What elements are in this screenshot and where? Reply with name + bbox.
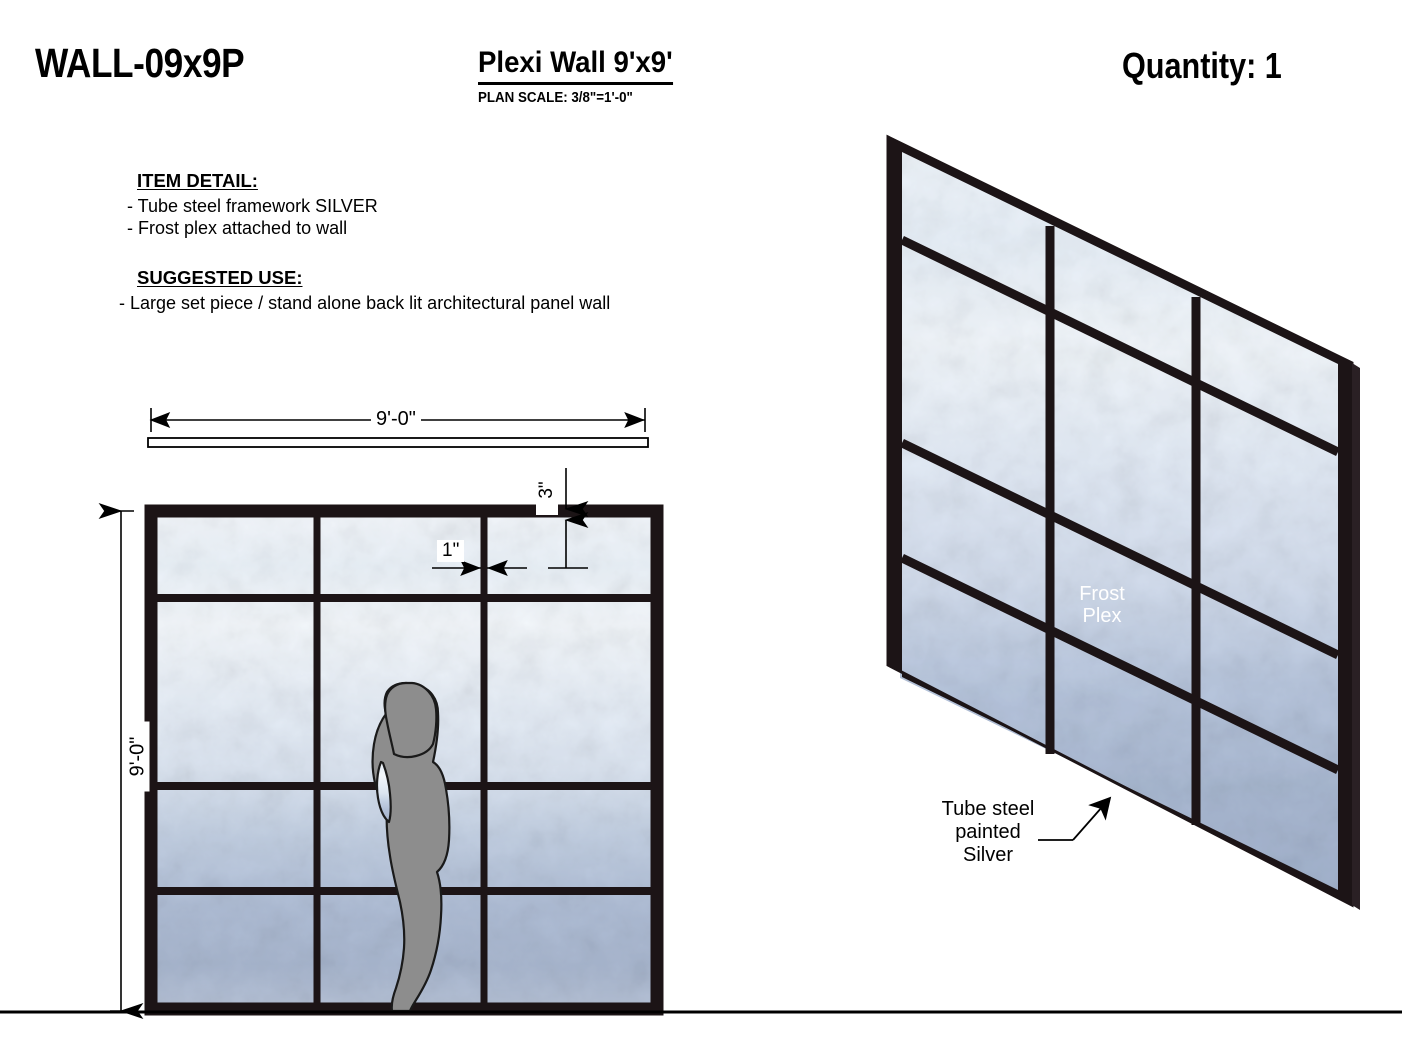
tube-steel-line-3: Silver: [918, 844, 1058, 867]
width-dimension-label: 9'-0": [371, 408, 421, 431]
frost-plex-line-1: Frost: [1042, 583, 1162, 605]
tube-steel-line-2: painted: [918, 821, 1058, 844]
tube-steel-callout: Tube steel painted Silver: [918, 798, 1058, 867]
frost-plex-callout: Frost Plex: [1042, 583, 1162, 627]
mullion-width-label: 1": [437, 540, 464, 562]
perspective-view: [888, 137, 1360, 910]
height-dimension-label: 9'-0": [127, 722, 150, 792]
tube-steel-line-1: Tube steel: [918, 798, 1058, 821]
frame-depth-label: 3": [536, 465, 558, 515]
elevation-view: [151, 511, 657, 1011]
plan-section-bar: [148, 438, 648, 447]
drawing-canvas: [0, 0, 1402, 1039]
perspective-edge-thickness: [1352, 363, 1360, 910]
spec-sheet: WALL-09x9P Plexi Wall 9'x9' PLAN SCALE: …: [0, 0, 1402, 1039]
frost-plex-line-2: Plex: [1042, 605, 1162, 627]
